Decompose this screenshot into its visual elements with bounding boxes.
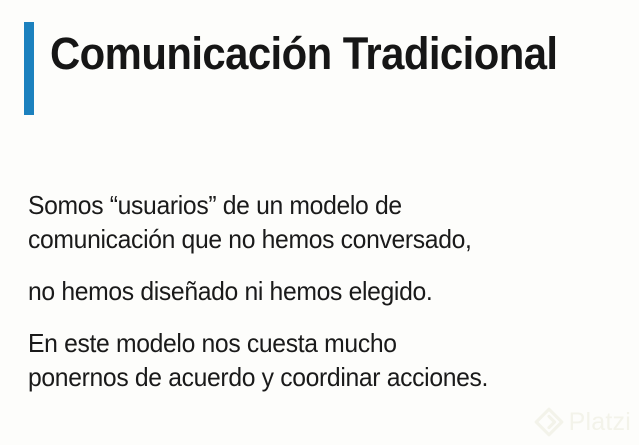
body-line: no hemos diseñado ni hemos elegido. bbox=[28, 274, 584, 308]
body-line: Somos “usuarios” de un modelo de bbox=[28, 188, 584, 222]
title-block: Comunicación Tradicional bbox=[0, 0, 639, 140]
platzi-diamond-logo-icon bbox=[534, 407, 564, 437]
body-line: comunicación que no hemos conversado, bbox=[28, 222, 584, 256]
body-line: En este modelo nos cuesta mucho bbox=[28, 326, 584, 360]
body-paragraph: Somos “usuarios” de un modelo de comunic… bbox=[28, 188, 584, 256]
body-text-block: Somos “usuarios” de un modelo de comunic… bbox=[28, 188, 613, 394]
body-line: ponernos de acuerdo y coordinar acciones… bbox=[28, 360, 584, 394]
title-accent-bar bbox=[24, 22, 34, 115]
slide-canvas: Comunicación Tradicional Somos “usuarios… bbox=[0, 0, 639, 445]
platzi-watermark: Platzi bbox=[534, 407, 631, 437]
body-paragraph: En este modelo nos cuesta mucho ponernos… bbox=[28, 326, 584, 394]
platzi-wordmark: Platzi bbox=[569, 407, 631, 437]
page-title: Comunicación Tradicional bbox=[50, 25, 585, 83]
body-paragraph: no hemos diseñado ni hemos elegido. bbox=[28, 274, 584, 308]
